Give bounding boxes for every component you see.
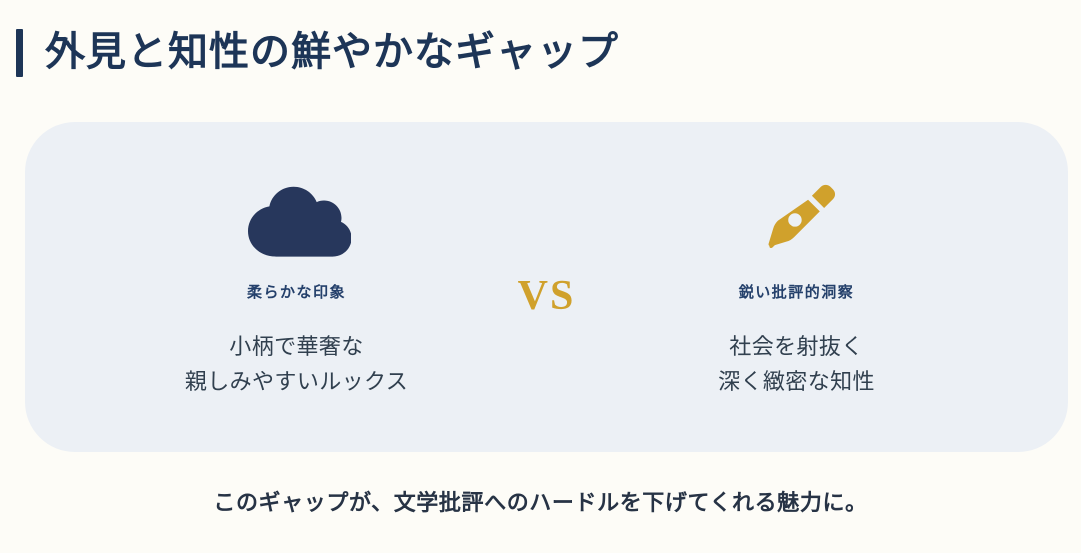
comparison-right-description: 社会を射抜く 深く緻密な知性	[718, 330, 875, 398]
comparison-right-label: 鋭い批評的洞察	[739, 281, 855, 302]
versus-label: VS	[518, 275, 576, 317]
heading-accent-bar	[16, 29, 23, 77]
page-header: 外見と知性の鮮やかなギャップ	[0, 0, 1081, 100]
comparison-left-label: 柔らかな印象	[247, 281, 346, 302]
comparison-left-description: 小柄で華奢な 親しみやすいルックス	[185, 330, 408, 398]
pen-nib-icon	[756, 179, 838, 265]
comparison-side-left: 柔らかな印象 小柄で華奢な 親しみやすいルックス	[117, 179, 477, 398]
comparison-layout: 柔らかな印象 小柄で華奢な 親しみやすいルックス VS	[25, 179, 1068, 398]
footer-caption: このギャップが、文学批評へのハードルを下げてくれる魅力に。	[0, 485, 1081, 517]
comparison-side-right: 鋭い批評的洞察 社会を射抜く 深く緻密な知性	[617, 179, 977, 398]
page-title: 外見と知性の鮮やかなギャップ	[45, 30, 619, 74]
versus-separator: VS	[477, 179, 617, 317]
comparison-card: 柔らかな印象 小柄で華奢な 親しみやすいルックス VS	[25, 122, 1068, 452]
cloud-icon	[243, 179, 351, 265]
